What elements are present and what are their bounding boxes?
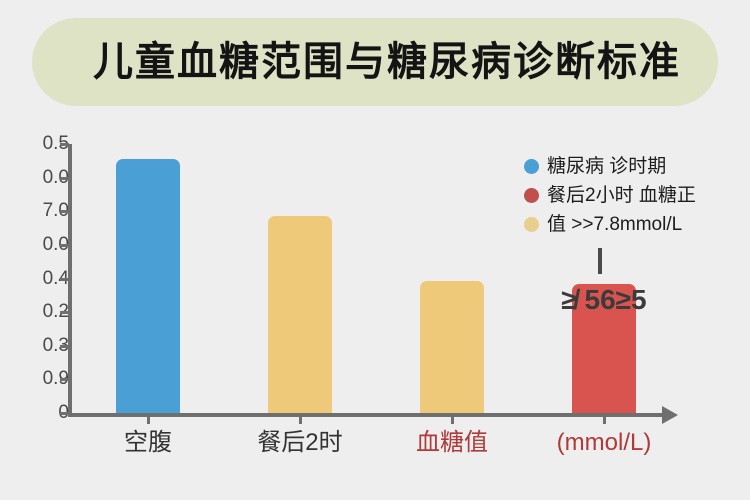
- y-tick: 0.4: [0, 269, 69, 289]
- y-tick-mark: [60, 210, 69, 213]
- legend-item-label: 糖尿病 诊时期: [547, 157, 666, 176]
- bar[interactable]: [116, 159, 180, 413]
- y-tick: 0.0: [0, 168, 69, 188]
- legend-item[interactable]: 值 >>7.8mmol/L: [524, 211, 746, 237]
- page-title: 儿童血糖范围与糖尿病诊断标准: [69, 42, 681, 82]
- y-tick-mark: [60, 244, 69, 247]
- x-axis-category-label: 餐后2时: [224, 430, 376, 456]
- legend-item-label: 餐后2小时 血糖正: [547, 186, 696, 205]
- x-axis-arrow-icon: [662, 406, 678, 424]
- legend-color-swatch-icon: [524, 188, 539, 203]
- bar[interactable]: [268, 216, 332, 413]
- x-axis-category-label: (mmol/L): [528, 430, 680, 456]
- y-tick: 0.2: [0, 302, 69, 322]
- y-tick-mark: [60, 311, 69, 314]
- y-tick-mark: [60, 412, 69, 415]
- y-tick-mark: [60, 278, 69, 281]
- y-tick-mark: [60, 378, 69, 381]
- x-axis-line: [68, 413, 668, 417]
- y-tick-mark: [60, 345, 69, 348]
- y-tick: 0.5: [0, 134, 69, 154]
- y-tick-mark: [60, 143, 69, 146]
- y-tick: 7.0: [0, 201, 69, 221]
- y-tick: 0.9: [0, 369, 69, 389]
- annotation-leader-line: [598, 248, 602, 274]
- y-tick-mark: [60, 177, 69, 180]
- x-tick-mark: [603, 414, 606, 424]
- bar-chart: mmol/L 0.50.07.00.00.40.20.30.90 空腹餐后2时血…: [0, 118, 750, 500]
- y-tick: 0.3: [0, 336, 69, 356]
- title-banner: 儿童血糖范围与糖尿病诊断标准: [32, 18, 718, 106]
- legend-item-label: 值 >>7.8mmol/L: [547, 215, 682, 234]
- x-tick-mark: [147, 414, 150, 424]
- x-tick-mark: [299, 414, 302, 424]
- annotation-value-label: ≱ 56≥5: [524, 286, 684, 314]
- legend-item[interactable]: 餐后2小时 血糖正: [524, 182, 746, 208]
- x-axis-category-label: 空腹: [72, 430, 224, 456]
- chart-legend: 糖尿病 诊时期餐后2小时 血糖正值 >>7.8mmol/L: [524, 153, 746, 240]
- y-tick: 0: [0, 403, 69, 423]
- legend-color-swatch-icon: [524, 159, 539, 174]
- x-axis-category-label: 血糖值: [376, 430, 528, 456]
- y-tick: 0.0: [0, 235, 69, 255]
- bar[interactable]: [420, 281, 484, 413]
- legend-item[interactable]: 糖尿病 诊时期: [524, 153, 746, 179]
- x-tick-mark: [451, 414, 454, 424]
- legend-color-swatch-icon: [524, 217, 539, 232]
